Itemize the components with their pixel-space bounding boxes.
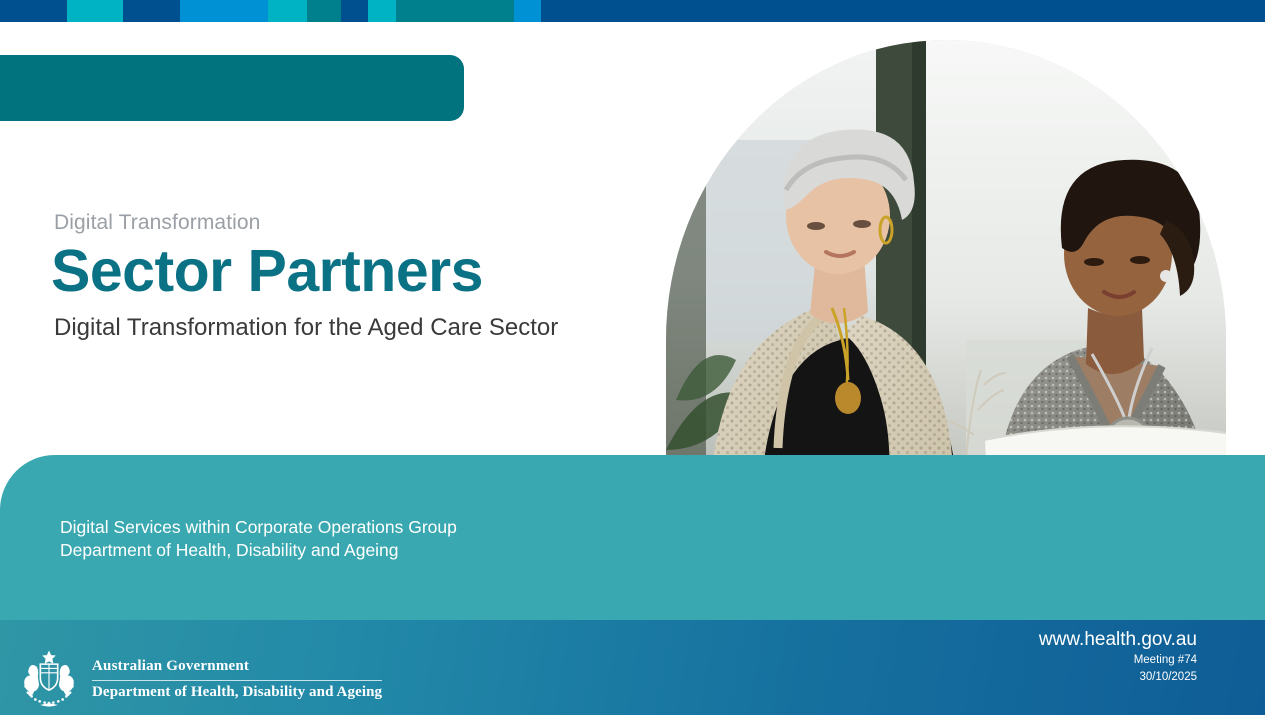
wordmark-divider — [92, 680, 382, 681]
eyebrow-text: Digital Transformation — [54, 210, 674, 235]
teal-band-right-corner — [1145, 455, 1265, 620]
slide-meta: www.health.gov.au Meeting #74 30/10/2025 — [1039, 628, 1197, 686]
top-bar-segment-6 — [341, 0, 368, 22]
government-lockup: Australian Government Department of Heal… — [18, 648, 382, 710]
website-url: www.health.gov.au — [1039, 628, 1197, 652]
department-label: Department of Health, Disability and Age… — [92, 684, 382, 701]
title-slide: Digital Transformation Sector Partners D… — [0, 0, 1265, 715]
top-bar-segment-5 — [307, 0, 341, 22]
top-bar-segment-9 — [396, 0, 514, 22]
top-bar-segment-0 — [0, 0, 67, 22]
top-bar-segment-2 — [123, 0, 180, 22]
meeting-date: 30/10/2025 — [1039, 669, 1197, 686]
government-wordmark: Australian Government Department of Heal… — [92, 658, 382, 701]
organisation-lines: Digital Services within Corporate Operat… — [60, 516, 457, 563]
australian-government-label: Australian Government — [92, 658, 382, 678]
top-bar-segment-3 — [180, 0, 268, 22]
subtitle-text: Digital Transformation for the Aged Care… — [54, 313, 674, 343]
page-title: Sector Partners — [51, 241, 674, 303]
top-bar-segment-1 — [67, 0, 123, 22]
top-bar-segment-8 — [368, 0, 396, 22]
top-colour-bar — [0, 0, 1265, 22]
top-bar-segment-11 — [541, 0, 1265, 22]
meeting-number: Meeting #74 — [1039, 652, 1197, 669]
top-bar-segment-10 — [514, 0, 541, 22]
headline-block: Digital Transformation Sector Partners D… — [54, 210, 674, 343]
teal-accent-bar — [0, 55, 464, 121]
coat-of-arms-icon — [18, 648, 80, 710]
top-bar-segment-4 — [268, 0, 307, 22]
